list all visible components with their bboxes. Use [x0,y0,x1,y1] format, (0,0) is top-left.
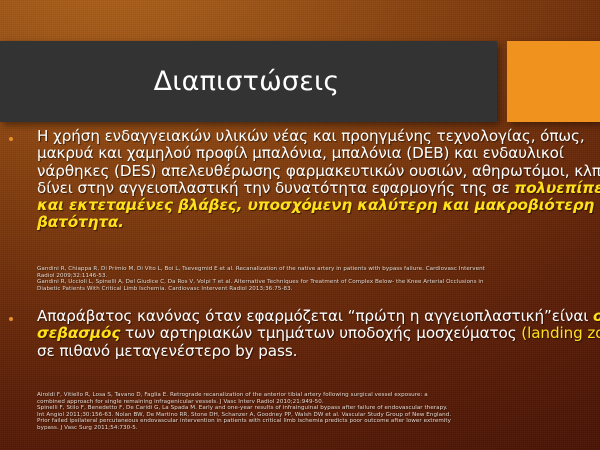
page-title: Διαπιστώσεις [154,68,340,95]
citation-group-2: Airoldi F, Vitiello R, Losa S, Tavano D,… [0,392,600,432]
citation-line: Gandini R, Chiappa R, Di Primio M, Di Vi… [37,266,600,273]
bullet-2-segment-highlight-2: (landing zones) [521,324,600,342]
bullet-2-text: Απαράβατος κανόνας όταν εφαρμόζεται “πρώ… [37,308,600,360]
citation-line: Gandini R, Uccioli L, Spinelli A, Del Gi… [37,279,600,286]
bullet-1-text: Η χρήση ενδαγγειακών υλικών νέας και προ… [37,128,600,232]
citation-line: Spinelli F, Stilo F, Benedetto F, De Car… [37,405,600,412]
slide-title-bar: Διαπιστώσεις [0,41,497,122]
bullet-2-segment-plain-1: Απαράβατος κανόνας όταν εφαρμόζεται “πρώ… [37,307,593,325]
bullet-item-1: Η χρήση ενδαγγειακών υλικών νέας και προ… [0,128,600,232]
bullet-item-2: Απαράβατος κανόνας όταν εφαρμόζεται “πρώ… [0,308,600,360]
citation-line: bypass. J Vasc Surg 2011;54:730-5. [37,425,600,432]
bullet-dot-icon [9,317,13,321]
bullet-2-segment-plain-3: σε πιθανό μεταγενέστερο by pass. [37,342,297,360]
citation-line: Diabetic Patients With Critical Limb Isc… [37,286,600,293]
citation-line: Prior failed ipsilateral percutaneous en… [37,418,600,425]
citation-group-1: Gandini R, Chiappa R, Di Primio M, Di Vi… [0,266,600,292]
presentation-slide: Διαπιστώσεις Η χρήση ενδαγγειακών υλικών… [0,0,600,450]
accent-block [507,41,600,122]
bullet-dot-icon [9,137,13,141]
bullet-2-segment-plain-2: των αρτηριακών τμημάτων υποδοχής μοσχεύμ… [120,324,521,342]
citation-line: Airoldi F, Vitiello R, Losa S, Tavano D,… [37,392,600,399]
